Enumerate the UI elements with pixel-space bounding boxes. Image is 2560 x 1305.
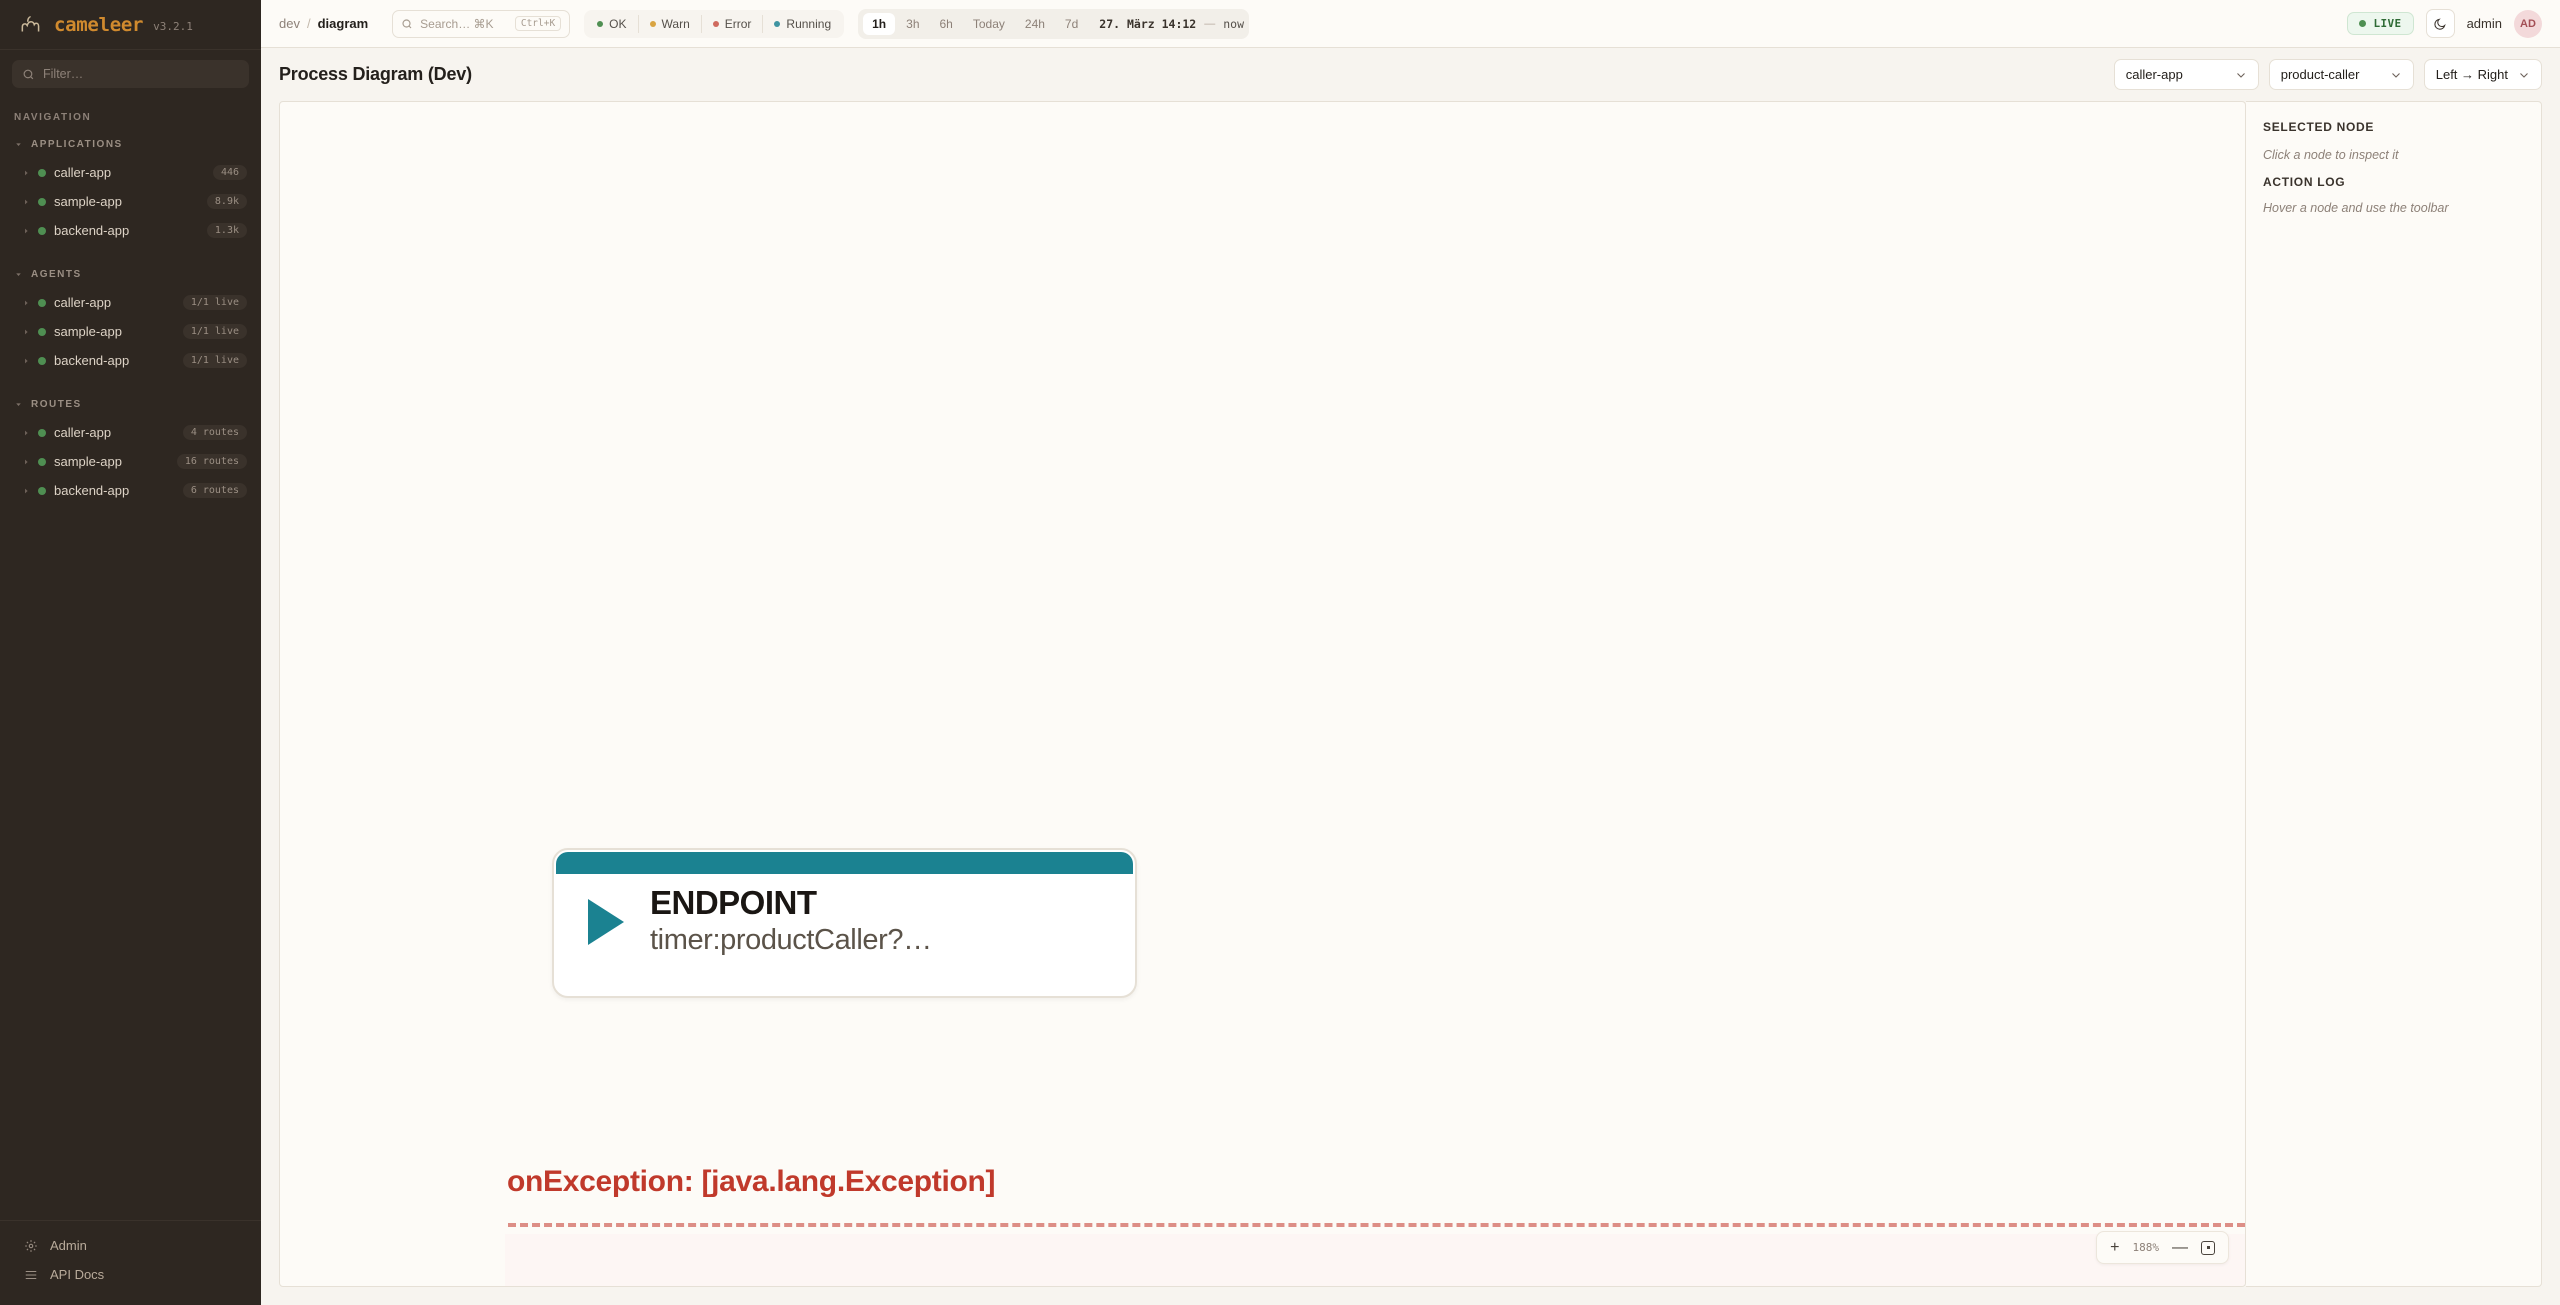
brand[interactable]: cameleer v3.2.1 <box>0 0 261 50</box>
sidebar-item-badge: 4 routes <box>183 425 247 440</box>
caret-right-icon <box>22 227 30 235</box>
topbar-right: LIVE admin AD <box>2347 9 2542 38</box>
sidebar-item-badge: 1.3k <box>207 223 247 238</box>
sidebar-filter-input[interactable]: Filter… <box>12 60 249 88</box>
sidebar-item-badge: 1/1 live <box>183 324 247 339</box>
search-shortcut-hint: Ctrl+K <box>515 16 561 31</box>
sidebar-item-label: caller-app <box>54 165 111 180</box>
inspector-panel: SELECTED NODE Click a node to inspect it… <box>2246 101 2542 1287</box>
status-dot <box>38 169 46 177</box>
time-range-3h[interactable]: 3h <box>897 13 928 35</box>
caret-right-icon <box>22 299 30 307</box>
sidebar-item-badge: 1/1 live <box>183 353 247 368</box>
status-filter-running[interactable]: Running <box>763 15 842 33</box>
sidebar-item-badge: 6 routes <box>183 483 247 498</box>
diagram-node-endpoint[interactable]: ENDPOINT timer:productCaller?… <box>552 848 1137 998</box>
status-dot <box>38 328 46 336</box>
camel-icon <box>18 12 44 38</box>
node-text: ENDPOINT timer:productCaller?… <box>650 886 932 957</box>
live-status-badge[interactable]: LIVE <box>2347 12 2413 35</box>
user-name: admin <box>2467 16 2502 31</box>
caret-right-icon <box>22 487 30 495</box>
sidebar-filter-placeholder: Filter… <box>43 67 83 81</box>
zoom-controls: + 188% — <box>2096 1231 2229 1264</box>
time-range-selector: 1h 3h 6h Today 24h 7d 27. März 14:12 — n… <box>858 9 1249 39</box>
sidebar-group-routes[interactable]: ROUTES <box>0 393 261 418</box>
status-dot <box>38 429 46 437</box>
sidebar-group-agents[interactable]: AGENTS <box>0 263 261 288</box>
search-input[interactable]: Search… ⌘K Ctrl+K <box>392 10 570 38</box>
sidebar-group-applications[interactable]: APPLICATIONS <box>0 133 261 158</box>
play-icon <box>588 899 624 945</box>
sidebar-group-title: ROUTES <box>31 399 82 410</box>
time-range-dash: — <box>1198 18 1221 30</box>
diagram-canvas[interactable]: ENDPOINT timer:productCaller?… onExcepti… <box>279 101 2246 1287</box>
time-range-absolute[interactable]: 27. März 14:12 <box>1089 17 1196 31</box>
status-label: Warn <box>662 17 690 31</box>
selected-node-title: SELECTED NODE <box>2263 120 2524 134</box>
sidebar: cameleer v3.2.1 Filter… NAVIGATION APPLI… <box>0 0 261 1305</box>
application-select[interactable]: caller-app <box>2114 59 2259 90</box>
moon-icon <box>2433 17 2447 31</box>
breadcrumb: dev / diagram <box>279 16 368 31</box>
exception-divider <box>508 1223 2245 1227</box>
sidebar-item-badge: 8.9k <box>207 194 247 209</box>
sidebar-footer-label: Admin <box>50 1238 87 1253</box>
diagram-controls: caller-app product-caller Left → Right <box>2114 59 2542 90</box>
sidebar-footer-label: API Docs <box>50 1267 104 1282</box>
live-dot <box>2359 20 2366 27</box>
fit-to-screen-icon[interactable] <box>2201 1241 2215 1255</box>
avatar[interactable]: AD <box>2514 10 2542 38</box>
action-log-hint: Hover a node and use the toolbar <box>2263 201 2524 215</box>
route-select-value: product-caller <box>2281 67 2360 82</box>
chevron-down-icon <box>2235 69 2247 81</box>
gear-icon <box>24 1239 38 1253</box>
caret-right-icon <box>22 169 30 177</box>
zoom-percent: 188% <box>2133 1241 2160 1254</box>
sidebar-item-agents-sample-app[interactable]: sample-app 1/1 live <box>0 317 261 346</box>
exception-region <box>505 1234 2245 1286</box>
caret-right-icon <box>22 458 30 466</box>
main-area: dev / diagram Search… ⌘K Ctrl+K OK Warn <box>261 0 2560 1305</box>
time-range-today[interactable]: Today <box>964 13 1014 35</box>
sidebar-item-routes-caller-app[interactable]: caller-app 4 routes <box>0 418 261 447</box>
theme-toggle-button[interactable] <box>2426 9 2455 38</box>
brand-name: cameleer <box>54 14 143 36</box>
selected-node-hint: Click a node to inspect it <box>2263 148 2524 162</box>
sidebar-filter-wrap: Filter… <box>0 50 261 92</box>
status-dot <box>597 21 603 27</box>
breadcrumb-root[interactable]: dev <box>279 16 300 31</box>
sidebar-item-badge: 16 routes <box>177 454 247 469</box>
caret-down-icon <box>14 270 23 279</box>
status-filter-error[interactable]: Error <box>702 15 764 33</box>
search-icon <box>401 18 413 30</box>
exception-label: onException: [java.lang.Exception] <box>507 1165 995 1199</box>
breadcrumb-separator: / <box>307 16 311 31</box>
sidebar-item-label: caller-app <box>54 295 111 310</box>
time-range-1h[interactable]: 1h <box>863 13 895 35</box>
status-dot <box>38 458 46 466</box>
time-range-24h[interactable]: 24h <box>1016 13 1054 35</box>
spacer <box>0 245 261 263</box>
status-dot <box>38 357 46 365</box>
search-placeholder: Search… ⌘K <box>420 17 493 31</box>
sidebar-item-label: backend-app <box>54 483 129 498</box>
status-filter-warn[interactable]: Warn <box>639 15 702 33</box>
status-label: OK <box>609 17 626 31</box>
status-dot <box>713 21 719 27</box>
caret-right-icon <box>22 357 30 365</box>
status-dot <box>38 198 46 206</box>
time-range-6h[interactable]: 6h <box>931 13 962 35</box>
zoom-in-button[interactable]: + <box>2110 1240 2119 1256</box>
sidebar-item-applications-sample-app[interactable]: sample-app 8.9k <box>0 187 261 216</box>
live-label: LIVE <box>2373 17 2401 30</box>
sidebar-nav: NAVIGATION APPLICATIONS caller-app 446 s… <box>0 92 261 1220</box>
sidebar-item-routes-backend-app[interactable]: backend-app 6 routes <box>0 476 261 505</box>
status-label: Error <box>725 17 752 31</box>
node-body: ENDPOINT timer:productCaller?… <box>554 874 1135 957</box>
status-filters: OK Warn Error Running <box>584 10 844 38</box>
sidebar-group-title: AGENTS <box>31 269 82 280</box>
sidebar-item-agents-backend-app[interactable]: backend-app 1/1 live <box>0 346 261 375</box>
status-label: Running <box>786 17 831 31</box>
sidebar-item-badge: 446 <box>213 165 247 180</box>
sidebar-item-routes-sample-app[interactable]: sample-app 16 routes <box>0 447 261 476</box>
sidebar-item-label: sample-app <box>54 324 122 339</box>
search-icon <box>22 68 35 81</box>
status-dot <box>38 299 46 307</box>
action-log-title: ACTION LOG <box>2263 175 2524 189</box>
sidebar-item-admin[interactable]: Admin <box>0 1231 261 1260</box>
caret-right-icon <box>22 328 30 336</box>
node-header-bar <box>556 852 1133 874</box>
sidebar-item-api-docs[interactable]: API Docs <box>0 1260 261 1289</box>
chevron-down-icon <box>2518 69 2530 81</box>
sidebar-item-agents-caller-app[interactable]: caller-app 1/1 live <box>0 288 261 317</box>
sidebar-item-label: caller-app <box>54 425 111 440</box>
sidebar-item-applications-caller-app[interactable]: caller-app 446 <box>0 158 261 187</box>
page-title: Process Diagram (Dev) <box>279 64 472 85</box>
topbar: dev / diagram Search… ⌘K Ctrl+K OK Warn <box>261 0 2560 48</box>
status-dot <box>38 227 46 235</box>
content-row: ENDPOINT timer:productCaller?… onExcepti… <box>261 101 2560 1305</box>
sidebar-group-title: APPLICATIONS <box>31 139 123 150</box>
brand-version: v3.2.1 <box>153 20 193 33</box>
status-dot <box>650 21 656 27</box>
sidebar-item-label: backend-app <box>54 353 129 368</box>
sidebar-item-badge: 1/1 live <box>183 295 247 310</box>
node-uri-label: timer:productCaller?… <box>650 923 932 958</box>
sidebar-item-label: sample-app <box>54 194 122 209</box>
subheader: Process Diagram (Dev) caller-app product… <box>261 48 2560 101</box>
status-dot <box>38 487 46 495</box>
time-range-now[interactable]: now <box>1223 17 1244 31</box>
node-kind-label: ENDPOINT <box>650 886 932 921</box>
direction-select-value: Left → Right <box>2436 67 2508 82</box>
caret-right-icon <box>22 198 30 206</box>
breadcrumb-current: diagram <box>318 16 369 31</box>
caret-right-icon <box>22 429 30 437</box>
sidebar-item-label: sample-app <box>54 454 122 469</box>
zoom-out-button[interactable]: — <box>2172 1240 2188 1256</box>
status-filter-ok[interactable]: OK <box>586 15 638 33</box>
sidebar-item-label: backend-app <box>54 223 129 238</box>
caret-down-icon <box>14 400 23 409</box>
app-root: cameleer v3.2.1 Filter… NAVIGATION APPLI… <box>0 0 2560 1305</box>
list-icon <box>24 1268 38 1282</box>
direction-select[interactable]: Left → Right <box>2424 59 2542 90</box>
nav-section-label: NAVIGATION <box>0 104 261 133</box>
chevron-down-icon <box>2390 69 2402 81</box>
route-select[interactable]: product-caller <box>2269 59 2414 90</box>
application-select-value: caller-app <box>2126 67 2183 82</box>
spacer <box>0 375 261 393</box>
sidebar-footer: Admin API Docs <box>0 1220 261 1305</box>
caret-down-icon <box>14 140 23 149</box>
time-range-7d[interactable]: 7d <box>1056 13 1087 35</box>
sidebar-item-applications-backend-app[interactable]: backend-app 1.3k <box>0 216 261 245</box>
status-dot <box>774 21 780 27</box>
